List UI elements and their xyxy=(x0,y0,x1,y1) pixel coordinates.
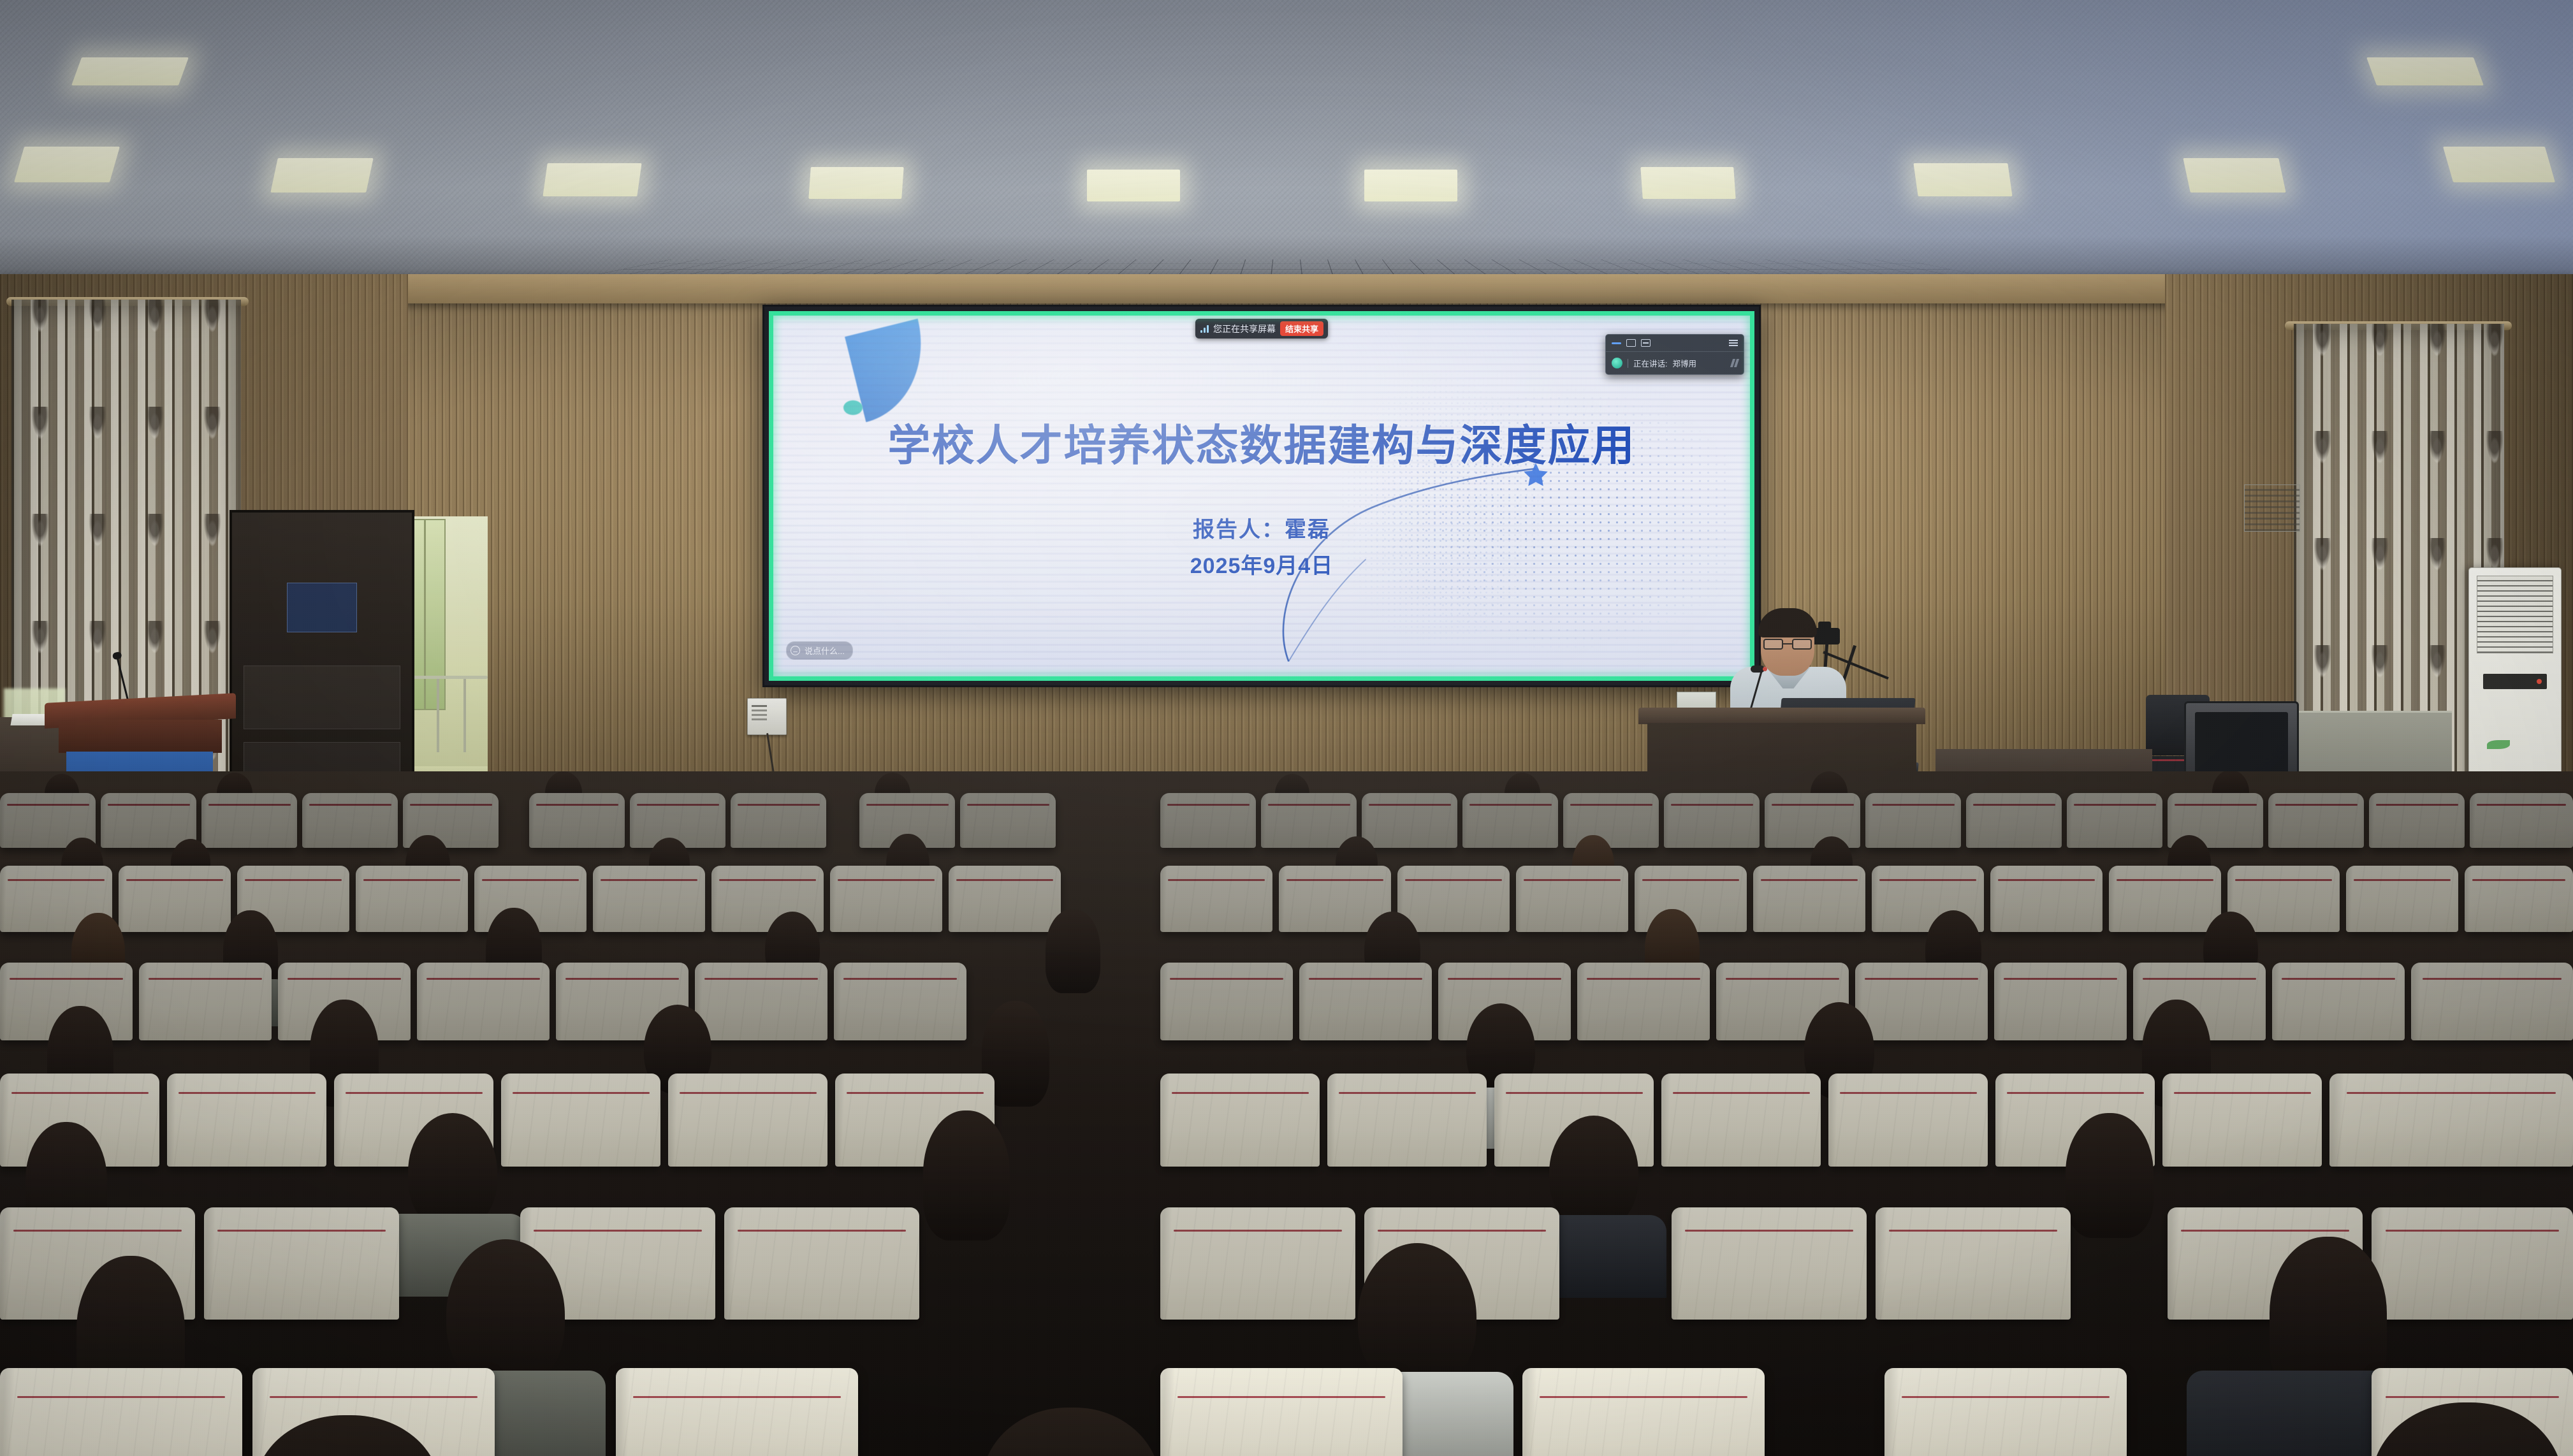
auditorium-seat[interactable] xyxy=(356,866,468,932)
auditorium-seat[interactable] xyxy=(1876,1207,2071,1320)
auditorium-seat[interactable] xyxy=(1966,793,2062,848)
smiley-face-icon xyxy=(791,646,800,655)
auditorium-seat[interactable] xyxy=(2109,866,2221,932)
layout-view-icon[interactable] xyxy=(1641,339,1651,347)
auditorium-seat[interactable] xyxy=(2268,793,2364,848)
auditorium-seat[interactable] xyxy=(1160,963,1293,1040)
auditorium-seat[interactable] xyxy=(2346,866,2458,932)
speaking-label: 正在讲话: xyxy=(1633,357,1667,369)
auditorium-seat[interactable] xyxy=(1563,793,1659,848)
ceiling-light xyxy=(808,167,903,199)
auditorium-seat[interactable] xyxy=(1397,866,1510,932)
audience-head xyxy=(982,1408,1160,1456)
auditorium-seat[interactable] xyxy=(139,963,272,1040)
auditorium-seat[interactable] xyxy=(2067,793,2162,848)
share-status-text: 您正在共享屏幕 xyxy=(1213,323,1276,335)
auditorium-seat[interactable] xyxy=(2465,866,2573,932)
auditorium-seat[interactable] xyxy=(2411,963,2573,1040)
auditorium-seat[interactable] xyxy=(960,793,1056,848)
wall-vent xyxy=(2244,484,2300,532)
auditorium-seat[interactable] xyxy=(1522,1368,1765,1456)
slide-presenter-line: 报告人：霍磊 xyxy=(773,512,1750,543)
minimize-icon[interactable] xyxy=(1612,342,1621,344)
auditorium-seat[interactable] xyxy=(949,866,1061,932)
ceiling-light xyxy=(1364,170,1457,201)
menu-list-icon[interactable] xyxy=(1729,340,1738,346)
auditorium-seat[interactable] xyxy=(593,866,705,932)
ceiling-light xyxy=(1640,167,1735,199)
auditorium-seat[interactable] xyxy=(2162,1074,2322,1167)
auditorium-seat[interactable] xyxy=(616,1368,858,1456)
ceiling xyxy=(0,0,2573,312)
ceiling-light xyxy=(2183,158,2285,193)
auditorium-seat[interactable] xyxy=(1672,1207,1867,1320)
auditorium-seat[interactable] xyxy=(1577,963,1710,1040)
auditorium-seat[interactable] xyxy=(2329,1074,2573,1167)
auditorium-seat[interactable] xyxy=(1516,866,1628,932)
auditorium-seat[interactable] xyxy=(830,866,942,932)
audio-waveform-icon xyxy=(1731,359,1738,367)
ac-display-panel[interactable] xyxy=(2483,674,2547,689)
lecture-hall-scene: 学校人才培养状态数据建构与深度应用 报告人：霍磊 2025年9月4日 说点什么.… xyxy=(0,0,2573,1456)
auditorium-seat[interactable] xyxy=(302,793,398,848)
auditorium-seat[interactable] xyxy=(2272,963,2405,1040)
restore-window-icon[interactable] xyxy=(1626,339,1636,347)
ceiling-light xyxy=(1913,163,2012,196)
ac-grille xyxy=(2477,576,2553,653)
auditorium-seat[interactable] xyxy=(204,1207,399,1320)
auditorium-seat[interactable] xyxy=(1160,866,1272,932)
auditorium-seat[interactable] xyxy=(1855,963,1988,1040)
projection-screen[interactable]: 学校人才培养状态数据建构与深度应用 报告人：霍磊 2025年9月4日 说点什么.… xyxy=(769,311,1754,681)
av-wall-control-panel[interactable] xyxy=(747,698,787,735)
auditorium-seat[interactable] xyxy=(1828,1074,1988,1167)
auditorium-seat[interactable] xyxy=(2372,1207,2573,1320)
auditorium-seat[interactable] xyxy=(529,793,625,848)
microphone-active-icon[interactable] xyxy=(1612,358,1622,368)
audience-seating-area xyxy=(0,771,2573,1456)
auditorium-seat[interactable] xyxy=(1664,793,1760,848)
chat-placeholder-text: 说点什么... xyxy=(805,644,845,657)
audience-head xyxy=(2066,1113,2154,1238)
auditorium-seat[interactable] xyxy=(1990,866,2103,932)
auditorium-seat[interactable] xyxy=(1160,1368,1403,1456)
chat-input-pill[interactable]: 说点什么... xyxy=(786,641,853,660)
meeting-floating-toolbar[interactable]: 正在讲话: 郑博用 xyxy=(1605,334,1744,375)
auditorium-seat[interactable] xyxy=(1160,1207,1355,1320)
divider xyxy=(1628,359,1628,368)
auditorium-seat[interactable] xyxy=(1160,1074,1320,1167)
end-share-button[interactable]: 结束共享 xyxy=(1280,321,1323,336)
auditorium-seat[interactable] xyxy=(1362,793,1457,848)
hall-door[interactable] xyxy=(230,510,414,816)
slide-title: 学校人才培养状态数据建构与深度应用 xyxy=(773,411,1750,473)
ceiling-light xyxy=(71,57,189,85)
auditorium-seat[interactable] xyxy=(695,963,827,1040)
audience-head xyxy=(923,1110,1010,1241)
ceiling-light xyxy=(14,147,120,182)
auditorium-seat[interactable] xyxy=(2369,793,2465,848)
door-sign xyxy=(287,583,357,632)
auditorium-seat[interactable] xyxy=(1299,963,1432,1040)
auditorium-seat[interactable] xyxy=(668,1074,827,1167)
audience-head xyxy=(1046,909,1100,993)
presenter-glasses xyxy=(1763,639,1812,650)
ceiling-light xyxy=(2443,147,2555,182)
audience-head xyxy=(1549,1116,1638,1230)
meeting-speaker-row: 正在讲话: 郑博用 xyxy=(1606,352,1744,374)
auditorium-seat[interactable] xyxy=(1661,1074,1821,1167)
auditorium-seat[interactable] xyxy=(1884,1368,2127,1456)
auditorium-seat[interactable] xyxy=(101,793,196,848)
door-panel xyxy=(244,666,400,729)
projection-screen-frame: 学校人才培养状态数据建构与深度应用 报告人：霍磊 2025年9月4日 说点什么.… xyxy=(762,305,1761,687)
auditorium-seat[interactable] xyxy=(724,1207,919,1320)
auditorium-seat[interactable] xyxy=(1753,866,1865,932)
auditorium-seat[interactable] xyxy=(2470,793,2573,848)
speaker-name: 郑博用 xyxy=(1672,357,1696,369)
auditorium-seat[interactable] xyxy=(1462,793,1558,848)
podium-microphone-head xyxy=(1751,666,1765,673)
ceiling-light xyxy=(2366,57,2484,85)
auditorium-seat[interactable] xyxy=(1261,793,1357,848)
signal-bars-icon xyxy=(1200,325,1209,333)
auditorium-seat[interactable] xyxy=(731,793,826,848)
auditorium-seat[interactable] xyxy=(1994,963,2127,1040)
auditorium-seat[interactable] xyxy=(1765,793,1860,848)
ceiling-light xyxy=(1087,170,1180,201)
auditorium-seat[interactable] xyxy=(167,1074,326,1167)
auditorium-seat[interactable] xyxy=(1160,793,1256,848)
ceiling-light xyxy=(270,158,373,193)
slide-date-line: 2025年9月4日 xyxy=(773,548,1750,579)
ceiling-light xyxy=(543,163,641,196)
auditorium-seat[interactable] xyxy=(1327,1074,1487,1167)
meeting-toolbar-titlebar xyxy=(1606,335,1744,352)
auditorium-seat[interactable] xyxy=(501,1074,660,1167)
presentation-slide: 学校人才培养状态数据建构与深度应用 报告人：霍磊 2025年9月4日 说点什么.… xyxy=(773,316,1750,676)
presenter-hair xyxy=(1758,608,1817,637)
auditorium-seat[interactable] xyxy=(119,866,231,932)
ac-leaf-icon xyxy=(2487,740,2510,749)
auditorium-seat[interactable] xyxy=(1865,793,1961,848)
screen-share-banner: 您正在共享屏幕 结束共享 xyxy=(1195,319,1328,339)
auditorium-seat[interactable] xyxy=(834,963,966,1040)
auditorium-seat[interactable] xyxy=(0,1368,242,1456)
auditorium-seat[interactable] xyxy=(201,793,297,848)
auditorium-seat[interactable] xyxy=(417,963,550,1040)
